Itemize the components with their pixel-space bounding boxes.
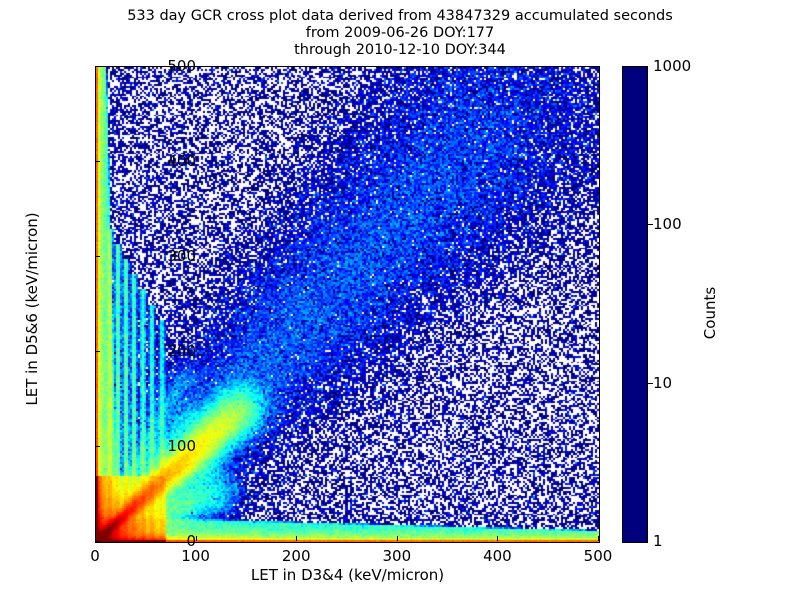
x-tick-label-100: 100	[181, 547, 210, 565]
y-tick-mark	[95, 66, 100, 67]
x-tick-label-300: 300	[382, 547, 411, 565]
y-tick-label-400: 400	[167, 152, 196, 170]
y-tick-mark	[95, 446, 100, 447]
x-tick-label-400: 400	[483, 547, 512, 565]
colorbar-tick-label-1: 1	[653, 532, 663, 550]
x-tick-label-0: 0	[90, 547, 100, 565]
plot-area	[95, 66, 600, 543]
x-tick-mark	[196, 536, 197, 541]
colorbar-tick-label-100: 100	[653, 215, 682, 233]
x-tick-mark	[95, 536, 96, 541]
x-tick-mark	[296, 536, 297, 541]
y-tick-mark	[95, 256, 100, 257]
colorbar-tick-label-1000: 1000	[653, 57, 691, 75]
y-tick-label-500: 500	[167, 57, 196, 75]
x-tick-mark	[497, 536, 498, 541]
y-tick-label-200: 200	[167, 342, 196, 360]
colorbar-tick-mark	[648, 224, 653, 225]
y-tick-mark	[95, 541, 100, 542]
x-tick-mark	[598, 536, 599, 541]
colorbar	[622, 66, 648, 543]
colorbar-gradient	[623, 67, 647, 542]
y-tick-label-300: 300	[167, 247, 196, 265]
y-tick-mark	[95, 161, 100, 162]
x-tick-mark	[397, 536, 398, 541]
x-tick-label-500: 500	[584, 547, 613, 565]
gcr-cross-plot-figure: 533 day GCR cross plot data derived from…	[0, 0, 800, 600]
title-line-1: 533 day GCR cross plot data derived from…	[0, 8, 800, 25]
y-tick-mark	[95, 351, 100, 352]
x-tick-label-200: 200	[282, 547, 311, 565]
title-line-2: from 2009-06-26 DOY:177	[0, 25, 800, 42]
y-axis-label: LET in D5&6 (keV/micron)	[23, 209, 41, 409]
y-tick-label-100: 100	[167, 437, 196, 455]
density-scatter-canvas	[96, 67, 599, 542]
colorbar-tick-label-10: 10	[653, 374, 672, 392]
colorbar-tick-mark	[648, 383, 653, 384]
x-axis-label: LET in D3&4 (keV/micron)	[95, 566, 600, 584]
colorbar-label: Counts	[701, 253, 719, 373]
figure-title: 533 day GCR cross plot data derived from…	[0, 8, 800, 59]
